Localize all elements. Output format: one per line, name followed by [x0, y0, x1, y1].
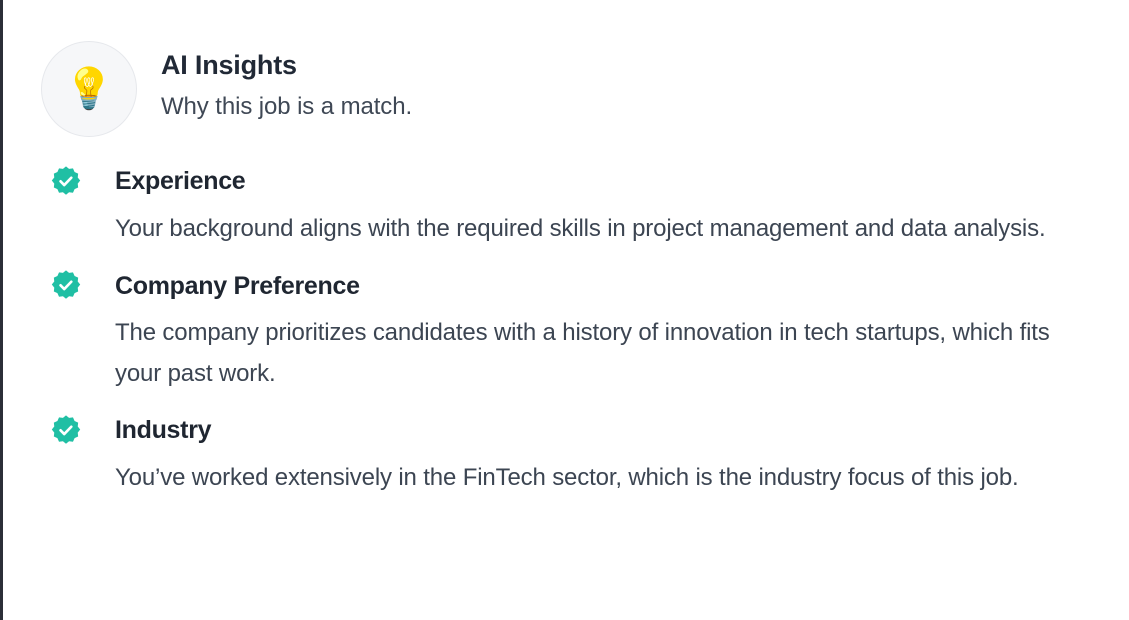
panel-header-text: AI Insights Why this job is a match. [137, 40, 412, 122]
page-subtitle: Why this job is a match. [161, 92, 412, 122]
verified-check-badge-icon [49, 269, 83, 303]
insight-body: The company prioritizes candidates with … [3, 313, 1129, 394]
insight-body: Your background aligns with the required… [3, 209, 1129, 249]
insight-header: Company Preference [3, 269, 1129, 303]
list-item: Experience Your background aligns with t… [3, 165, 1129, 249]
panel-header: 💡 AI Insights Why this job is a match. [3, 0, 1129, 137]
insight-title: Company Preference [83, 273, 360, 301]
insight-header: Experience [3, 165, 1129, 199]
insight-body: You’ve worked extensively in the FinTech… [3, 458, 1129, 498]
light-bulb-glyph: 💡 [64, 69, 114, 109]
light-bulb-icon: 💡 [41, 41, 137, 137]
insight-title: Industry [83, 417, 211, 445]
verified-check-badge-icon [49, 165, 83, 199]
ai-insights-panel: 💡 AI Insights Why this job is a match. E… [0, 0, 1129, 620]
list-item: Industry You’ve worked extensively in th… [3, 414, 1129, 498]
insight-header: Industry [3, 414, 1129, 448]
insight-title: Experience [83, 168, 245, 196]
verified-check-badge-icon [49, 414, 83, 448]
page-title: AI Insights [161, 51, 412, 81]
list-item: Company Preference The company prioritiz… [3, 269, 1129, 394]
insight-list: Experience Your background aligns with t… [3, 137, 1129, 498]
